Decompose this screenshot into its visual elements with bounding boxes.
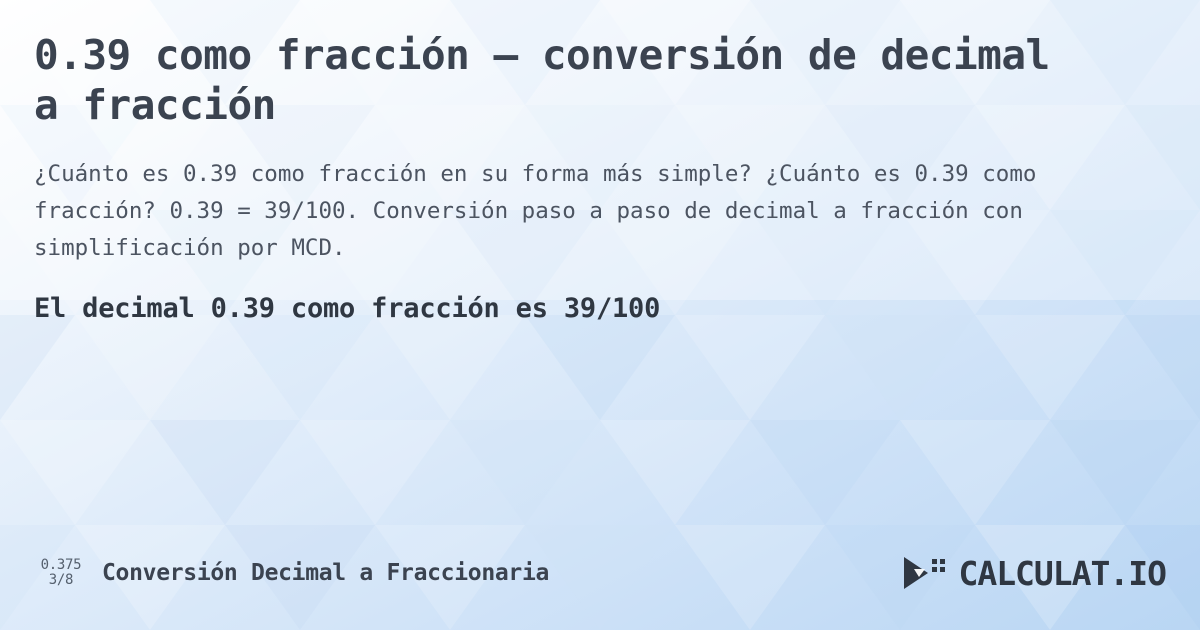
page-title: 0.39 como fracción – conversión de decim… (34, 30, 1064, 130)
fraction-badge-decimal: 0.375 (41, 558, 82, 573)
fraction-badge-icon: 0.375 3/8 (34, 558, 88, 588)
card-footer: 0.375 3/8 Conversión Decimal a Fracciona… (0, 552, 1200, 594)
page-description: ¿Cuánto es 0.39 como fracción en su form… (34, 156, 1094, 267)
fraction-badge-fraction: 3/8 (49, 573, 73, 588)
footer-label: Conversión Decimal a Fraccionaria (102, 560, 549, 586)
card-content: 0.39 como fracción – conversión de decim… (0, 0, 1200, 324)
brand-lockup: CALCULAT.IO (902, 554, 1166, 593)
brand-text: CALCULAT.IO (958, 554, 1166, 593)
calculator-logo-icon (902, 555, 948, 591)
social-card: 0.39 como fracción – conversión de decim… (0, 0, 1200, 630)
answer-line: El decimal 0.39 como fracción es 39/100 (34, 293, 1166, 324)
